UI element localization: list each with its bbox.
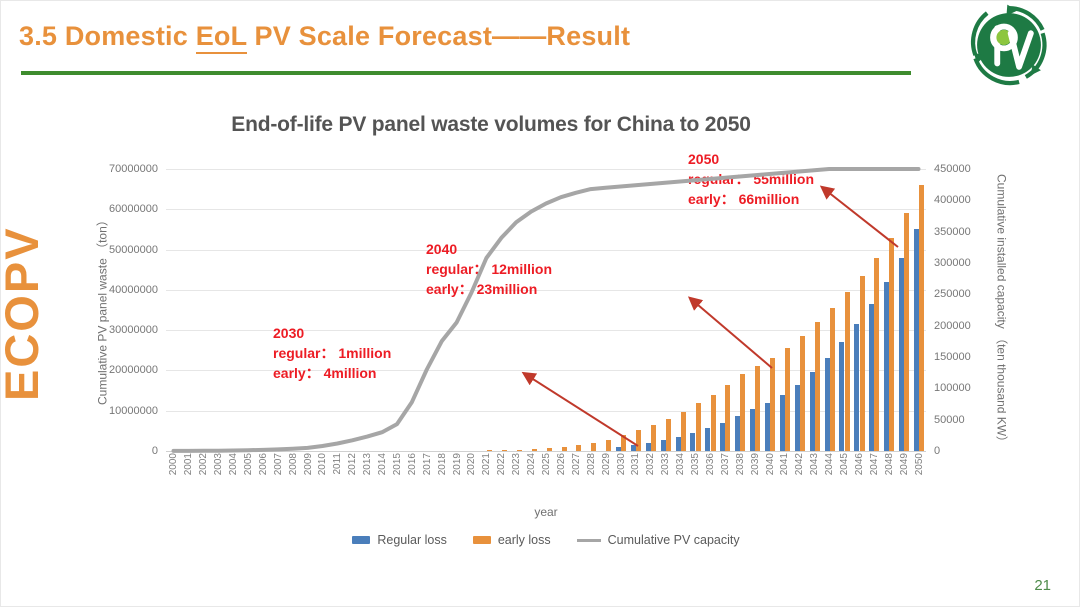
bar-early-2048 [889,238,894,452]
chart-title: End-of-life PV panel waste volumes for C… [41,113,941,137]
legend-line-swatch [577,539,601,542]
x-tick-label: 2050 [914,453,925,475]
x-tick-label: 2029 [601,453,612,475]
x-tick-label: 2010 [317,453,328,475]
bar-early-2030 [621,435,626,451]
gridline [166,451,926,452]
bar-early-2025 [547,448,552,451]
x-tick-label: 2023 [511,453,522,475]
legend-label: early loss [498,533,551,547]
x-tick-label: 2004 [228,453,239,475]
y-tick-right: 200000 [934,320,971,332]
x-tick-label: 2000 [168,453,179,475]
x-tick-label: 2009 [303,453,314,475]
bar-early-2029 [606,440,611,451]
x-tick-label: 2018 [437,453,448,475]
bar-early-2023 [517,450,522,451]
y-tick-left: 0 [152,445,158,457]
x-tick-label: 2044 [824,453,835,475]
ecopv-logo [965,3,1053,87]
annotation-2050: 2050 regular： 55million early： 66million [688,149,814,209]
x-tick-label: 2041 [779,453,790,475]
x-tick-label: 2011 [332,453,343,475]
x-tick-label: 2036 [705,453,716,475]
y-axis-title-right: Cumulative installed capacity （ten thous… [993,161,1011,461]
annotation-2040-year: 2040 [426,239,552,259]
bar-early-2026 [562,447,567,451]
x-tick-label: 2003 [213,453,224,475]
x-tick-label: 2040 [765,453,776,475]
ecopv-logo-icon [965,3,1053,87]
y-tick-left: 40000000 [109,284,158,296]
x-tick-label: 2049 [899,453,910,475]
plot-area: 0100000002000000030000000400000005000000… [166,169,926,451]
x-tick-label: 2045 [839,453,850,475]
slide-title: 3.5 Domestic EoL PV Scale Forecast——Resu… [19,21,630,52]
x-tick-label: 2039 [750,453,761,475]
bar-early-2022 [502,450,507,451]
bar-early-2024 [532,449,537,451]
page-number: 21 [1034,577,1051,594]
x-tick-label: 2021 [481,453,492,475]
y-tick-left: 70000000 [109,163,158,175]
slide-title-eol: EoL [196,21,247,54]
y-tick-left: 50000000 [109,244,158,256]
x-tick-label: 2035 [690,453,701,475]
x-tick-label: 2020 [466,453,477,475]
annotation-2030: 2030 regular： 1million early： 4million [273,323,391,383]
slide-header: 3.5 Domestic EoL PV Scale Forecast——Resu… [1,1,1080,83]
y-tick-right: 350000 [934,226,971,238]
legend-item-2[interactable]: Cumulative PV capacity [577,533,740,547]
x-tick-label: 2048 [884,453,895,475]
y-tick-right: 100000 [934,382,971,394]
legend-item-1[interactable]: early loss [473,533,551,547]
gridline [166,209,926,210]
bar-early-2033 [666,419,671,451]
x-tick-label: 2007 [273,453,284,475]
annotation-2040-regular: regular： 12million [426,259,552,279]
y-tick-left: 30000000 [109,324,158,336]
bar-early-2036 [711,395,716,451]
x-tick-label: 2025 [541,453,552,475]
bar-early-2037 [725,385,730,451]
bar-early-2045 [845,292,850,451]
chart-legend: Regular lossearly lossCumulative PV capa… [166,533,926,547]
x-tick-label: 2046 [854,453,865,475]
x-tick-label: 2005 [243,453,254,475]
x-tick-label: 2014 [377,453,388,475]
bar-early-2027 [576,445,581,451]
bar-early-2041 [785,348,790,451]
y-tick-right: 450000 [934,163,971,175]
bar-early-2049 [904,213,909,451]
y-tick-right: 250000 [934,288,971,300]
slide-title-part-2: PV Scale Forecast——Result [247,21,630,51]
x-tick-label: 2006 [258,453,269,475]
x-tick-label: 2042 [794,453,805,475]
bar-early-2040 [770,358,775,451]
x-tick-label: 2026 [556,453,567,475]
bar-early-2035 [696,403,701,451]
chart: End-of-life PV panel waste volumes for C… [41,101,1041,571]
x-tick-label: 2027 [571,453,582,475]
x-axis-labels: 2000200120022003200420052006200720082009… [166,453,926,505]
x-tick-label: 2019 [452,453,463,475]
bar-early-2046 [860,276,865,451]
x-tick-label: 2013 [362,453,373,475]
annotation-2040: 2040 regular： 12million early： 23million [426,239,552,299]
legend-color-swatch [473,536,491,544]
annotation-2040-early: early： 23million [426,279,552,299]
x-tick-label: 2033 [660,453,671,475]
x-tick-label: 2034 [675,453,686,475]
x-tick-label: 2012 [347,453,358,475]
bar-early-2038 [740,374,745,451]
y-tick-right: 300000 [934,257,971,269]
bar-early-2050 [919,185,924,451]
x-tick-label: 2030 [616,453,627,475]
x-tick-label: 2028 [586,453,597,475]
x-tick-label: 2022 [496,453,507,475]
bar-early-2021 [487,450,492,451]
legend-color-swatch [352,536,370,544]
bar-early-2043 [815,322,820,451]
slide-canvas: 3.5 Domestic EoL PV Scale Forecast——Resu… [0,0,1080,607]
y-tick-right: 150000 [934,351,971,363]
y-tick-left: 20000000 [109,364,158,376]
y-tick-left: 10000000 [109,405,158,417]
y-tick-right: 0 [934,445,940,457]
x-tick-label: 2031 [630,453,641,475]
bar-early-2042 [800,336,805,451]
slide-title-part-1: 3.5 Domestic [19,21,196,51]
x-tick-label: 2047 [869,453,880,475]
x-tick-label: 2024 [526,453,537,475]
x-tick-label: 2017 [422,453,433,475]
annotation-2030-year: 2030 [273,323,391,343]
bar-early-2032 [651,425,656,451]
legend-label: Regular loss [377,533,446,547]
bar-early-2028 [591,443,596,451]
x-tick-label: 2016 [407,453,418,475]
x-tick-label: 2001 [183,453,194,475]
bar-early-2031 [636,430,641,451]
bar-early-2039 [755,366,760,451]
y-tick-left: 60000000 [109,203,158,215]
x-tick-label: 2002 [198,453,209,475]
x-tick-label: 2008 [288,453,299,475]
x-axis-title: year [166,505,926,519]
x-tick-label: 2015 [392,453,403,475]
x-tick-label: 2032 [645,453,656,475]
legend-label: Cumulative PV capacity [608,533,740,547]
bar-early-2047 [874,258,879,451]
legend-item-0[interactable]: Regular loss [352,533,446,547]
annotation-2030-regular: regular： 1million [273,343,391,363]
annotation-2030-early: early： 4million [273,363,391,383]
y-tick-right: 50000 [934,414,965,426]
x-tick-label: 2038 [735,453,746,475]
bar-early-2044 [830,308,835,451]
y-tick-right: 400000 [934,194,971,206]
annotation-2050-early: early： 66million [688,189,814,209]
x-tick-label: 2037 [720,453,731,475]
bar-early-2034 [681,412,686,451]
x-tick-label: 2043 [809,453,820,475]
annotation-2050-year: 2050 [688,149,814,169]
title-divider [21,71,911,75]
annotation-2050-regular: regular： 55million [688,169,814,189]
